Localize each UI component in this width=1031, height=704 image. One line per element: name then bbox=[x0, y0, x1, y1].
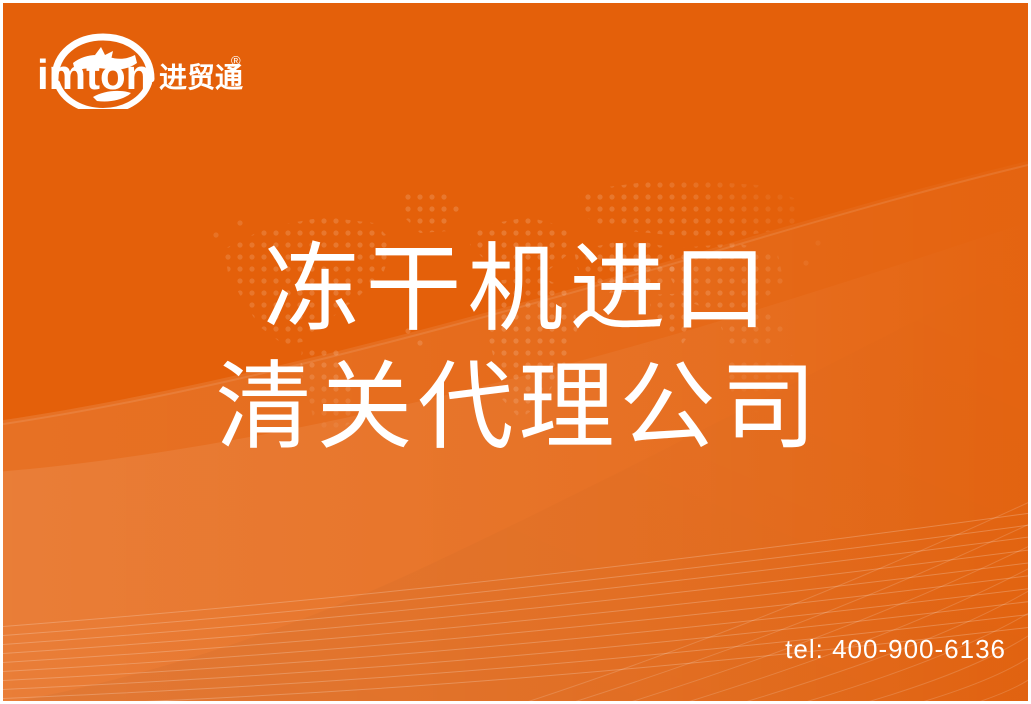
logo-wordmark: imton 进贸通 ® bbox=[37, 51, 243, 98]
contact-phone[interactable]: tel: 400-900-6136 bbox=[785, 634, 1006, 665]
logo-latin-text: imton bbox=[37, 51, 151, 98]
headline-line-1: 冻干机进口 bbox=[3, 231, 1031, 349]
headline-block: 冻干机进口 清关代理公司 bbox=[3, 231, 1031, 467]
poster-banner: imton 进贸通 ® 冻干机进口 清关代理公司 tel: 400-900-61… bbox=[0, 0, 1031, 704]
trademark-icon: ® bbox=[231, 53, 241, 68]
headline-line-2: 清关代理公司 bbox=[3, 349, 1031, 467]
brand-logo[interactable]: imton 进贸通 ® bbox=[37, 31, 247, 109]
